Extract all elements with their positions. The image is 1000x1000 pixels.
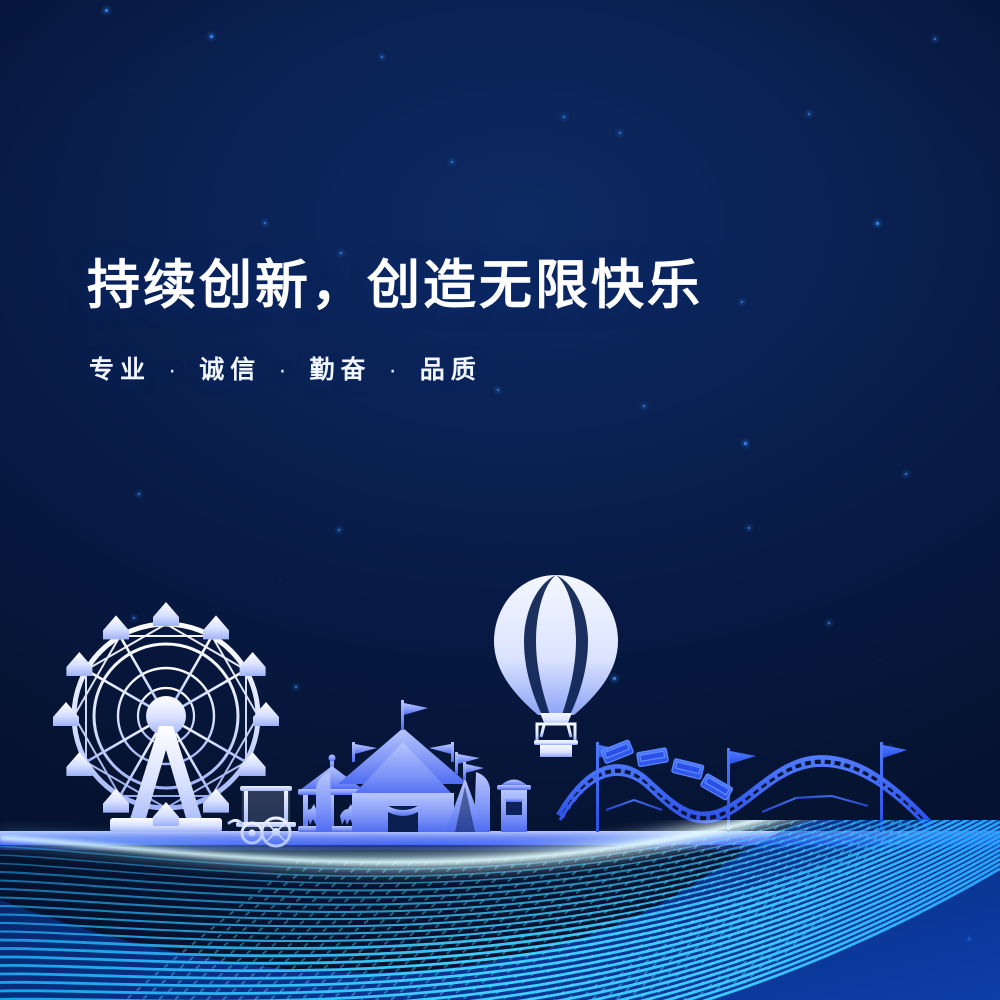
subtitle-item: 品质 <box>420 356 482 384</box>
headline-block: 持续创新，创造无限快乐 专业 · 诚信 · 勤奋 · 品质 <box>87 258 703 386</box>
subtitle-item: 专业 <box>89 356 151 384</box>
banner-root: 持续创新，创造无限快乐 专业 · 诚信 · 勤奋 · 品质 <box>0 0 1000 1000</box>
page-subtitle: 专业 · 诚信 · 勤奋 · 品质 <box>89 350 703 386</box>
subtitle-separator: · <box>164 356 186 384</box>
subtitle-item: 诚信 <box>199 356 261 384</box>
subtitle-separator: · <box>274 356 296 384</box>
subtitle-separator: · <box>384 356 406 384</box>
wave-mesh-graphic <box>0 0 1000 1000</box>
page-title: 持续创新，创造无限快乐 <box>87 258 703 314</box>
subtitle-item: 勤奋 <box>310 356 372 384</box>
